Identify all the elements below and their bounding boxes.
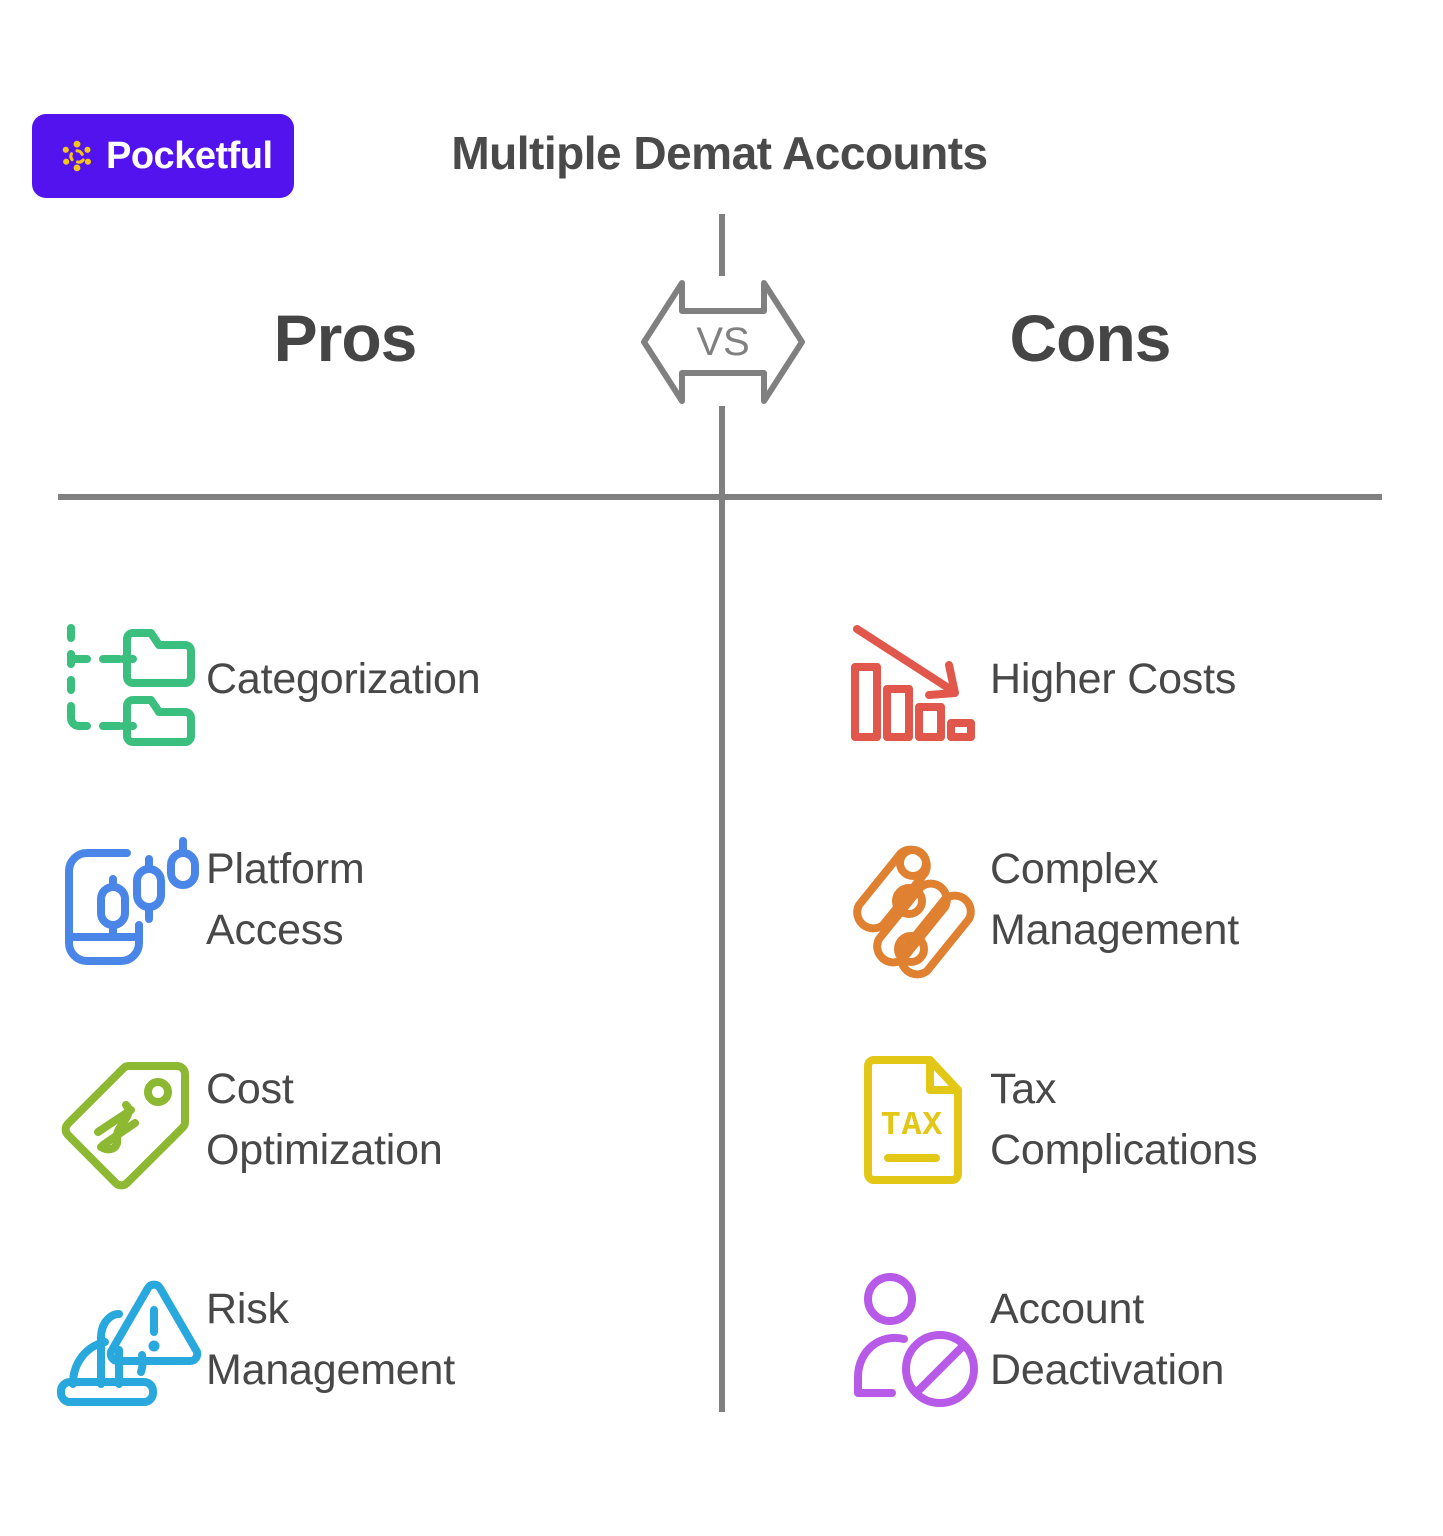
folder-tree-icon: [50, 610, 206, 750]
list-item-label: Categorization: [206, 649, 480, 710]
list-item[interactable]: Categorization: [50, 570, 700, 790]
pros-list: Categorization Platform Access: [50, 570, 700, 1450]
list-item-label: Account Deactivation: [990, 1279, 1224, 1401]
tax-document-icon: TAX: [840, 1050, 990, 1190]
price-tag-rupee-icon: [50, 1050, 206, 1190]
mobile-candlestick-icon: [50, 830, 206, 970]
page-title-text: Multiple Demat Accounts: [451, 126, 987, 180]
list-item-label: Cost Optimization: [206, 1059, 443, 1181]
safety-helmet-warning-icon: [50, 1270, 206, 1410]
pros-heading: Pros: [0, 305, 690, 371]
list-item[interactable]: Complex Management: [840, 790, 1400, 1010]
page-title: Multiple Demat Accounts: [0, 126, 1443, 180]
list-item-label: Tax Complications: [990, 1059, 1257, 1181]
svg-text:TAX: TAX: [881, 1107, 943, 1144]
list-item-label: Complex Management: [990, 839, 1239, 961]
list-item[interactable]: Risk Management: [50, 1230, 700, 1450]
list-item[interactable]: TAX Tax Complications: [840, 1010, 1400, 1230]
cons-heading: Cons: [745, 305, 1435, 371]
cons-list: Higher Costs Complex Management: [840, 570, 1400, 1450]
list-item[interactable]: Account Deactivation: [840, 1230, 1400, 1450]
list-item[interactable]: Cost Optimization: [50, 1010, 700, 1230]
horizontal-divider: [58, 494, 1382, 500]
list-item[interactable]: Platform Access: [50, 790, 700, 1010]
list-item-label: Risk Management: [206, 1279, 455, 1401]
list-item-label: Platform Access: [206, 839, 365, 961]
list-item[interactable]: Higher Costs: [840, 570, 1400, 790]
list-item-label: Higher Costs: [990, 649, 1236, 710]
user-blocked-icon: [840, 1270, 990, 1410]
diagonal-sliders-icon: [840, 830, 990, 970]
declining-bar-chart-icon: [840, 610, 990, 750]
